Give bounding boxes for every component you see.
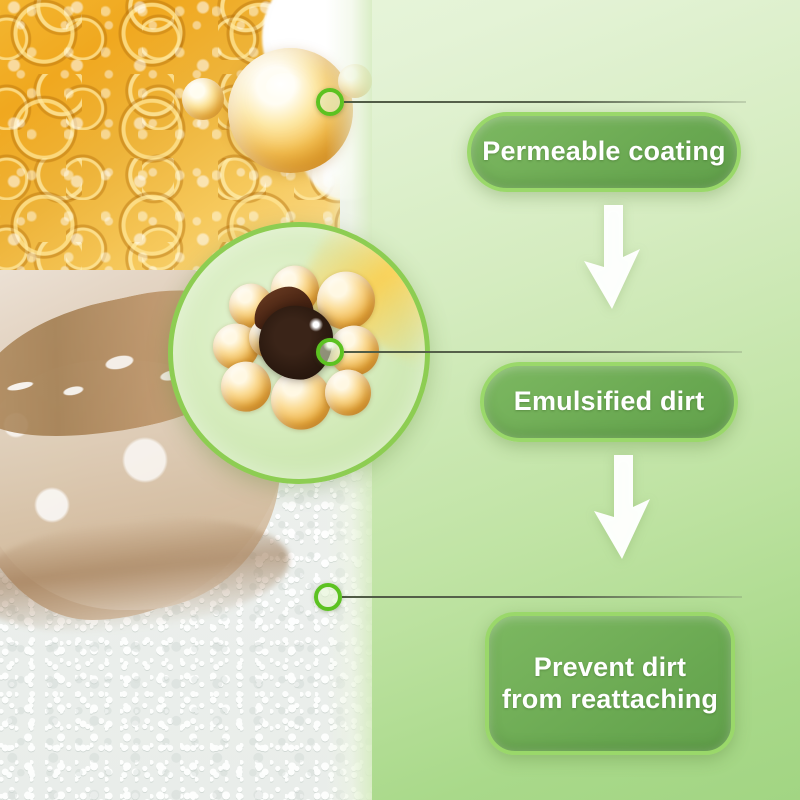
step-label-1: Permeable coating <box>482 136 726 168</box>
sparkle-icon <box>309 318 323 332</box>
step-pill-1[interactable]: Permeable coating <box>467 112 741 192</box>
connector-dot-step-2[interactable] <box>316 338 344 366</box>
arrow-step1-to-step2 <box>578 205 648 310</box>
step-label-3-line-1: Prevent dirt <box>534 652 686 684</box>
small-oil-bubble-right <box>338 64 372 98</box>
micelle-bubble <box>325 370 371 416</box>
arrow-step2-to-step3 <box>588 455 658 560</box>
step-pill-2[interactable]: Emulsified dirt <box>480 362 738 442</box>
step-pill-3[interactable]: Prevent dirt from reattaching <box>485 612 735 755</box>
micelle-bubble <box>221 362 271 412</box>
step-label-2: Emulsified dirt <box>514 386 705 418</box>
infographic-canvas: Permeable coating Emulsified dirt Preven… <box>0 0 800 800</box>
magnifier-circle <box>168 222 430 484</box>
connector-line-step-1 <box>344 101 746 103</box>
small-oil-bubble <box>182 78 224 120</box>
connector-dot-step-1[interactable] <box>316 88 344 116</box>
step-label-3-line-2: from reattaching <box>502 684 718 716</box>
connector-line-step-3 <box>342 596 742 598</box>
connector-dot-step-3[interactable] <box>314 583 342 611</box>
connector-line-step-2 <box>344 351 742 353</box>
micelle-cluster <box>213 266 385 434</box>
